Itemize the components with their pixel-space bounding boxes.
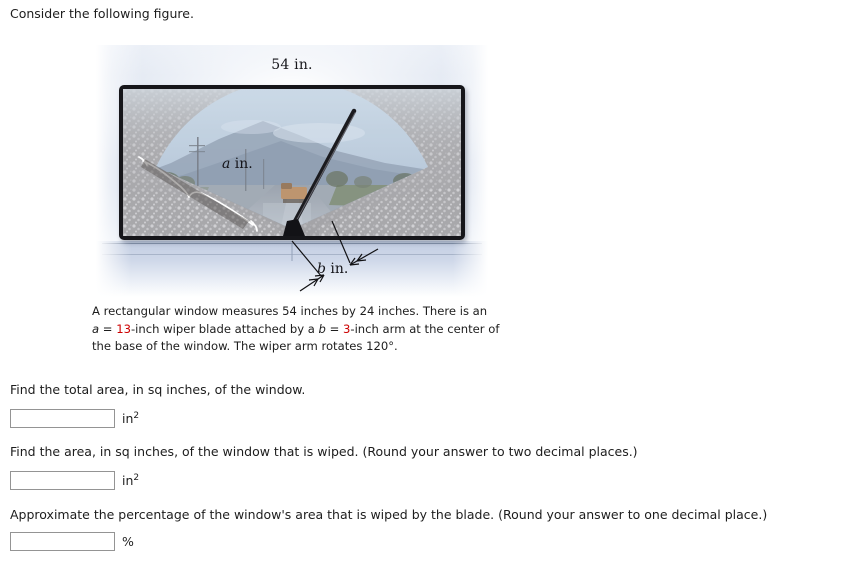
question-2-unit: in2 (122, 474, 139, 488)
question-2-unit-text: in (122, 473, 133, 488)
arm-length-label: b in. (317, 261, 348, 277)
question-2-input[interactable] (10, 471, 115, 490)
desc-eq-1: = (99, 322, 116, 336)
arm-unit: in. (326, 261, 348, 277)
question-3-prompt: Approximate the percentage of the window… (10, 507, 767, 522)
desc-value-a: 13 (116, 322, 131, 336)
question-3-unit-text: % (122, 534, 134, 549)
question-1-input[interactable] (10, 409, 115, 428)
question-1-answer-row: in2 (10, 409, 139, 428)
question-1-unit-exponent: 2 (133, 411, 139, 421)
question-3-unit: % (122, 535, 134, 549)
figure-container: 54 in. 24 in. (96, 45, 488, 297)
arm-var: b (317, 261, 326, 277)
desc-eq-2: = (326, 322, 343, 336)
question-2-prompt: Find the area, in sq inches, of the wind… (10, 444, 638, 459)
question-1-unit-text: in (122, 411, 133, 426)
desc-line-2-post: -inch arm at the center of (350, 322, 499, 336)
page-intro-text: Consider the following figure. (10, 6, 194, 21)
desc-line-3: the base of the window. The wiper arm ro… (92, 339, 398, 353)
question-3-answer-row: % (10, 532, 134, 551)
arm-annotation-arrows (96, 45, 488, 297)
question-2-unit-exponent: 2 (133, 473, 139, 483)
problem-description: A rectangular window measures 54 inches … (92, 303, 522, 356)
desc-line-2-mid: -inch wiper blade attached by a (131, 322, 319, 336)
question-3-input[interactable] (10, 532, 115, 551)
blade-length-label: a in. (222, 156, 253, 172)
question-1-unit: in2 (122, 412, 139, 426)
blade-unit: in. (230, 156, 252, 172)
desc-line-1: A rectangular window measures 54 inches … (92, 304, 487, 318)
question-1-prompt: Find the total area, in sq inches, of th… (10, 382, 305, 397)
desc-var-b: b (319, 322, 326, 336)
question-2-answer-row: in2 (10, 471, 139, 490)
